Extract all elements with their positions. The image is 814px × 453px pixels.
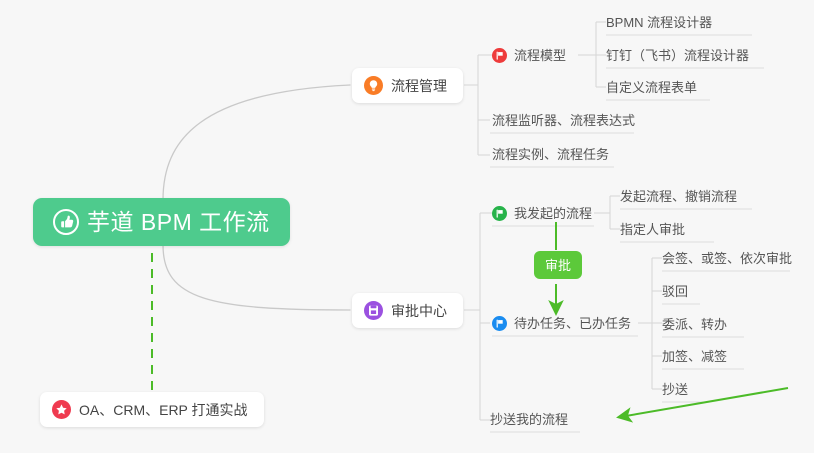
node-todo-done-tasks[interactable]: 待办任务、已办任务 — [492, 310, 631, 336]
node-label-delegate-transfer: 委派、转办 — [662, 318, 727, 331]
node-reject[interactable]: 驳回 — [662, 278, 688, 304]
node-label-instance-task: 流程实例、流程任务 — [492, 148, 609, 161]
node-label-start-cancel: 发起流程、撤销流程 — [620, 190, 737, 203]
node-listener-expression[interactable]: 流程监听器、流程表达式 — [492, 107, 635, 133]
node-label-dingtalk-feishu-designer: 钉钉（飞书）流程设计器 — [606, 49, 749, 62]
branch-label-approval-center: 审批中心 — [391, 304, 447, 318]
node-label-add-remove-sign: 加签、减签 — [662, 350, 727, 363]
node-label-custom-process-form: 自定义流程表单 — [606, 81, 697, 94]
annotation-integration-note[interactable]: OA、CRM、ERP 打通实战 — [40, 392, 264, 427]
branch-label-process-management: 流程管理 — [391, 79, 447, 93]
annotation-approval-label: 审批 — [545, 259, 571, 272]
node-start-cancel[interactable]: 发起流程、撤销流程 — [620, 183, 737, 209]
node-label-my-initiated: 我发起的流程 — [514, 207, 592, 220]
node-dingtalk-feishu-designer[interactable]: 钉钉（飞书）流程设计器 — [606, 42, 749, 68]
node-label-cc-to-me: 抄送我的流程 — [490, 413, 568, 426]
node-label-process-model: 流程模型 — [514, 49, 566, 62]
node-cc[interactable]: 抄送 — [662, 376, 688, 402]
node-label-multi-sign: 会签、或签、依次审批 — [662, 252, 792, 265]
annotation-approval-pill: 审批 — [534, 251, 582, 279]
flag-red-icon — [492, 48, 507, 63]
branch-node-approval-center[interactable]: 审批中心 — [352, 293, 463, 328]
annotation-integration-label: OA、CRM、ERP 打通实战 — [79, 403, 248, 417]
node-multi-sign[interactable]: 会签、或签、依次审批 — [662, 245, 792, 271]
flag-blue-icon — [492, 316, 507, 331]
node-assignee-approval[interactable]: 指定人审批 — [620, 216, 685, 242]
clipboard-icon — [364, 301, 383, 320]
node-instance-task[interactable]: 流程实例、流程任务 — [492, 141, 609, 167]
thumbs-up-icon — [53, 209, 79, 235]
node-custom-process-form[interactable]: 自定义流程表单 — [606, 74, 697, 100]
node-add-remove-sign[interactable]: 加签、减签 — [662, 343, 727, 369]
branch-node-process-management[interactable]: 流程管理 — [352, 68, 463, 103]
node-delegate-transfer[interactable]: 委派、转办 — [662, 311, 727, 337]
flag-green-icon — [492, 206, 507, 221]
node-my-initiated[interactable]: 我发起的流程 — [492, 200, 592, 226]
node-cc-to-me[interactable]: 抄送我的流程 — [490, 406, 568, 432]
node-label-reject: 驳回 — [662, 285, 688, 298]
node-bpmn-designer[interactable]: BPMN 流程设计器 — [606, 9, 712, 35]
node-label-listener-expression: 流程监听器、流程表达式 — [492, 114, 635, 127]
node-label-cc: 抄送 — [662, 383, 688, 396]
root-label: 芋道 BPM 工作流 — [87, 211, 270, 234]
node-label-todo-done-tasks: 待办任务、已办任务 — [514, 317, 631, 330]
node-label-bpmn-designer: BPMN 流程设计器 — [606, 16, 712, 29]
node-process-model[interactable]: 流程模型 — [492, 42, 566, 68]
star-icon — [52, 400, 71, 419]
mindmap-canvas: 芋道 BPM 工作流 流程管理 流程模型 BPMN 流程设计器 钉钉（飞书）流程… — [0, 0, 814, 453]
root-node[interactable]: 芋道 BPM 工作流 — [33, 198, 290, 246]
node-label-assignee-approval: 指定人审批 — [620, 223, 685, 236]
lightbulb-icon — [364, 76, 383, 95]
